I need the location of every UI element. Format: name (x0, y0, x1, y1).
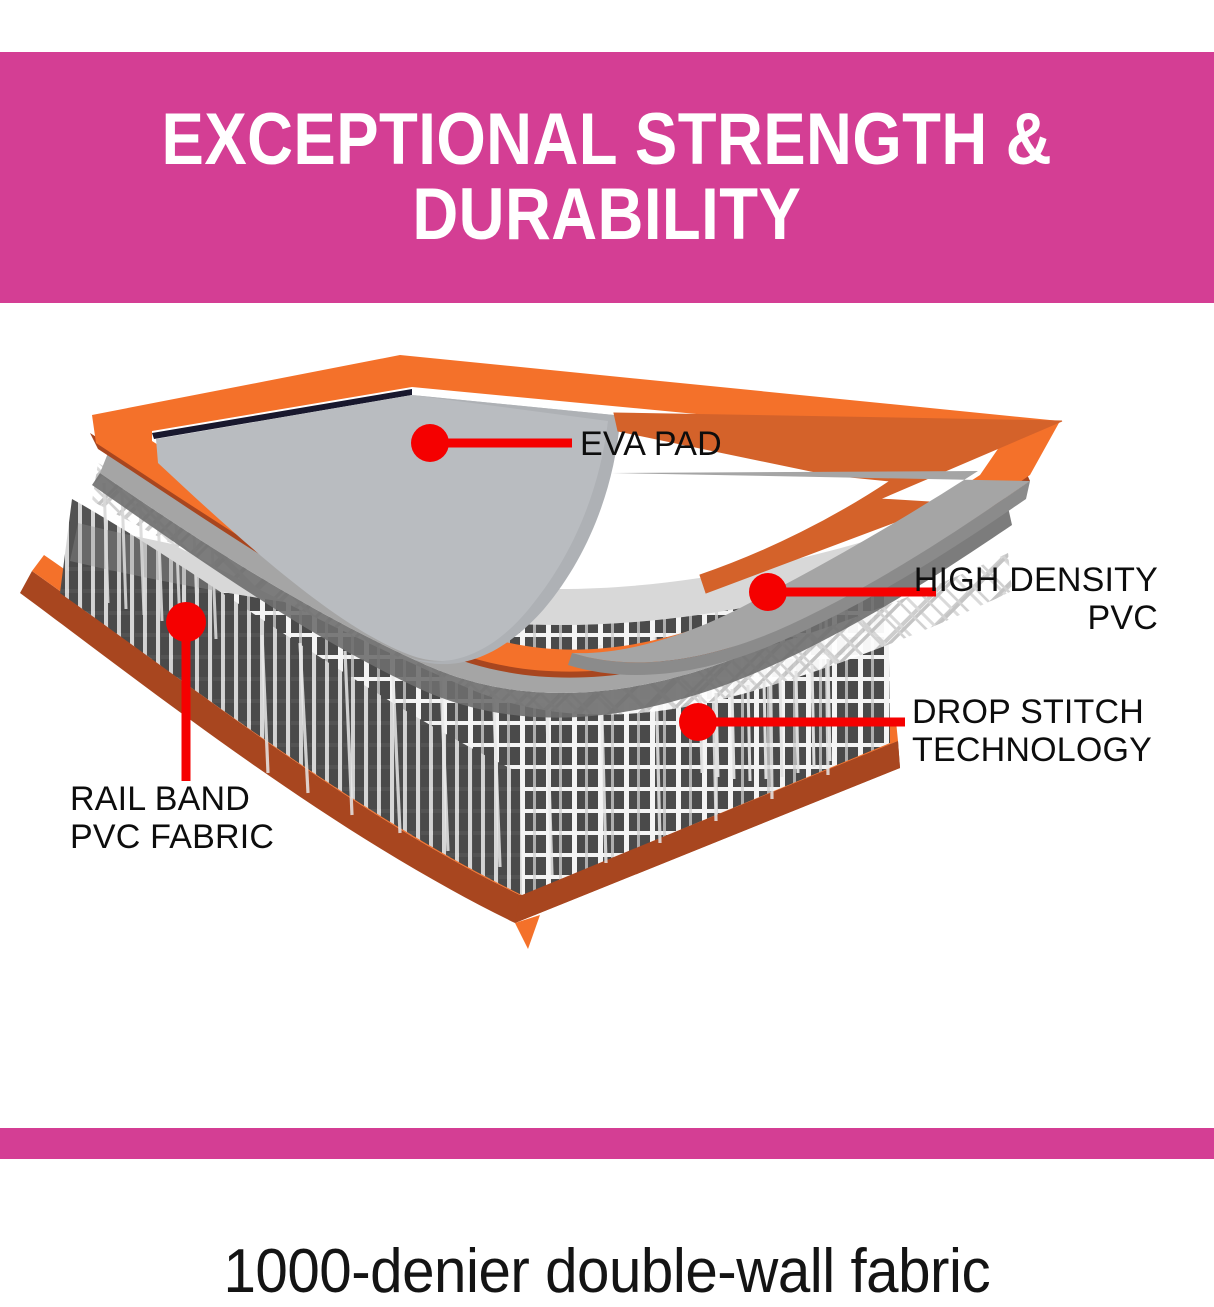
footer-band (0, 1128, 1214, 1159)
page-title: EXCEPTIONAL STRENGTH & DURABILITY (127, 103, 1087, 252)
header-band: EXCEPTIONAL STRENGTH & DURABILITY (0, 52, 1214, 303)
callout-label-eva-pad: EVA PAD (580, 425, 722, 463)
layer-diagram: EVA PAD HIGH DENSITY PVC DROP STITCH TEC… (0, 303, 1214, 1128)
callout-label-drop-stitch-technology: DROP STITCH TECHNOLOGY (912, 693, 1212, 769)
fabric-caption: 1000-denier double-wall fabric (224, 1236, 991, 1307)
callout-label-rail-band-pvc-fabric: RAIL BAND PVC FABRIC (70, 780, 400, 856)
infographic-page: EXCEPTIONAL STRENGTH & DURABILITY (0, 0, 1214, 1214)
callout-label-high-density-pvc: HIGH DENSITY PVC (700, 561, 1158, 637)
caption-row: 1000-denier double-wall fabric (0, 1236, 1214, 1307)
